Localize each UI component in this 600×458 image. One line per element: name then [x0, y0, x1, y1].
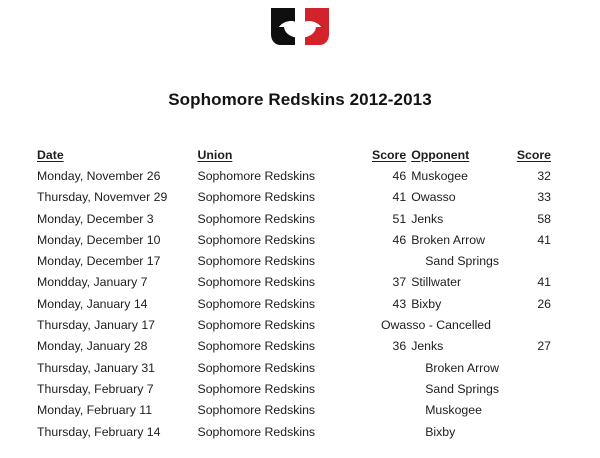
table-row: Thursday, January 31Sophomore RedskinsBr… — [37, 358, 551, 379]
cell-opponent: Muskogee — [406, 400, 514, 421]
cell-union: Sophomore Redskins — [198, 379, 368, 400]
column-header-score-opponent: Score — [514, 143, 551, 166]
cell-union: Sophomore Redskins — [198, 166, 368, 187]
cell-score-team — [368, 379, 406, 400]
cell-opponent: Bixby — [406, 294, 514, 315]
page-title: Sophomore Redskins 2012-2013 — [0, 90, 600, 110]
table-row: Monday, December 17Sophomore RedskinsSan… — [37, 251, 551, 272]
cell-score-opponent: 33 — [514, 187, 551, 208]
cell-score-opponent: 32 — [514, 166, 551, 187]
cell-score-team: 43 — [368, 294, 406, 315]
cell-score-opponent: 41 — [514, 230, 551, 251]
cell-score-opponent — [514, 379, 551, 400]
cell-opponent: Broken Arrow — [406, 358, 514, 379]
column-header-date: Date — [37, 143, 198, 166]
cell-union: Sophomore Redskins — [198, 272, 368, 293]
cell-score-team: 46 — [368, 166, 406, 187]
cell-date: Monday, February 11 — [37, 400, 198, 421]
column-header-opponent: Opponent — [406, 143, 514, 166]
cell-score-team — [368, 400, 406, 421]
cell-score-opponent — [514, 358, 551, 379]
cell-date: Thursday, February 7 — [37, 379, 198, 400]
cell-union: Sophomore Redskins — [198, 187, 368, 208]
table-row: Monday, December 10Sophomore Redskins46B… — [37, 230, 551, 251]
cell-score-opponent — [514, 400, 551, 421]
cell-date: Monday, December 3 — [37, 209, 198, 230]
cell-union: Sophomore Redskins — [198, 400, 368, 421]
cell-score-team — [368, 422, 406, 443]
cell-date: Thursday, January 17 — [37, 315, 198, 336]
cell-score-opponent — [514, 422, 551, 443]
cell-score-opponent: 41 — [514, 272, 551, 293]
table-header-row: Date Union Score Opponent Score — [37, 143, 551, 166]
cell-opponent: Sand Springs — [406, 379, 514, 400]
cell-score-team: 51 — [368, 209, 406, 230]
cell-opponent: Jenks — [406, 336, 514, 357]
cell-date: Monday, January 28 — [37, 336, 198, 357]
cell-date: Monday, January 14 — [37, 294, 198, 315]
cell-score-team: 46 — [368, 230, 406, 251]
cell-date: Monday, December 17 — [37, 251, 198, 272]
cell-date: Thursday, February 14 — [37, 422, 198, 443]
cell-opponent: Bixby — [406, 422, 514, 443]
cell-date: Mondday, January 7 — [37, 272, 198, 293]
cell-union: Sophomore Redskins — [198, 422, 368, 443]
schedule-table: Date Union Score Opponent Score Monday, … — [37, 143, 551, 443]
table-row: Thursday, Novemver 29Sophomore Redskins4… — [37, 187, 551, 208]
cell-opponent: Jenks — [406, 209, 514, 230]
cell-score-team — [368, 358, 406, 379]
cell-opponent: Owasso — [406, 187, 514, 208]
table-row: Monday, January 14Sophomore Redskins43Bi… — [37, 294, 551, 315]
cell-opponent: Broken Arrow — [406, 230, 514, 251]
cell-union: Sophomore Redskins — [198, 230, 368, 251]
cell-score-team — [368, 251, 406, 272]
u-logo-center-seam — [295, 7, 305, 46]
cell-union: Sophomore Redskins — [198, 251, 368, 272]
cell-date: Thursday, January 31 — [37, 358, 198, 379]
table-row: Thursday, February 14Sophomore RedskinsB… — [37, 422, 551, 443]
table-row: Thursday, January 17Sophomore RedskinsOw… — [37, 315, 551, 336]
table-row: Monday, November 26Sophomore Redskins46M… — [37, 166, 551, 187]
schedule-body: Monday, November 26Sophomore Redskins46M… — [37, 166, 551, 443]
cell-opponent: Stillwater — [406, 272, 514, 293]
union-u-logo — [271, 8, 329, 45]
cell-opponent: Muskogee — [406, 166, 514, 187]
table-row: Monday, January 28Sophomore Redskins36Je… — [37, 336, 551, 357]
table-row: Monday, February 11Sophomore RedskinsMus… — [37, 400, 551, 421]
cell-union: Sophomore Redskins — [198, 209, 368, 230]
column-header-score-team: Score — [368, 143, 406, 166]
cell-union: Sophomore Redskins — [198, 315, 368, 336]
table-row: Mondday, January 7Sophomore Redskins37St… — [37, 272, 551, 293]
cell-union: Sophomore Redskins — [198, 294, 368, 315]
cell-score-team: 36 — [368, 336, 406, 357]
cell-score-opponent — [514, 251, 551, 272]
table-row: Thursday, February 7Sophomore RedskinsSa… — [37, 379, 551, 400]
cell-union: Sophomore Redskins — [198, 358, 368, 379]
cell-date: Monday, November 26 — [37, 166, 198, 187]
cell-score-opponent: 26 — [514, 294, 551, 315]
cell-score-opponent: 58 — [514, 209, 551, 230]
column-header-union: Union — [198, 143, 368, 166]
cell-opponent: Sand Springs — [406, 251, 514, 272]
table-row: Monday, December 3Sophomore Redskins51Je… — [37, 209, 551, 230]
cell-note: Owasso - Cancelled — [368, 315, 551, 336]
cell-union: Sophomore Redskins — [198, 336, 368, 357]
cell-score-opponent: 27 — [514, 336, 551, 357]
cell-date: Thursday, Novemver 29 — [37, 187, 198, 208]
cell-score-team: 41 — [368, 187, 406, 208]
logo-container — [0, 8, 600, 46]
cell-score-team: 37 — [368, 272, 406, 293]
cell-date: Monday, December 10 — [37, 230, 198, 251]
